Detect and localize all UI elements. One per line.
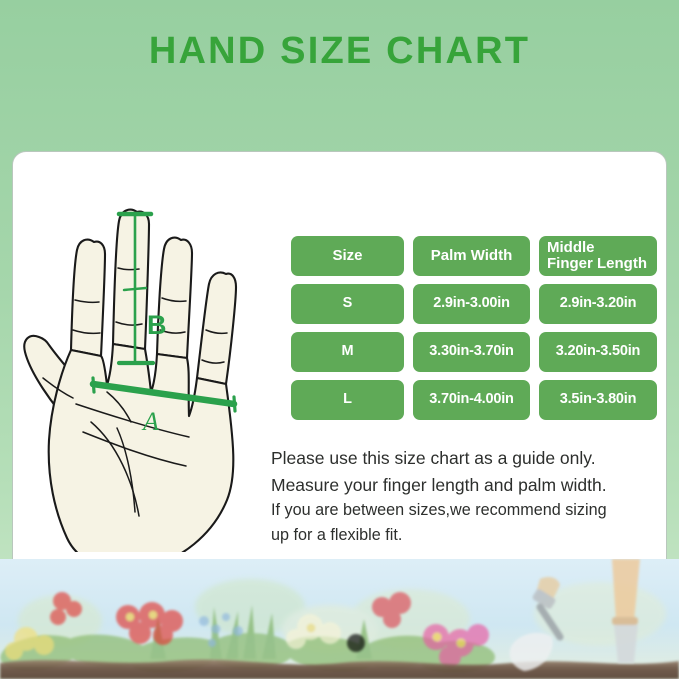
guidance-notes: Please use this size chart as a guide on…: [271, 445, 671, 547]
header-cell-size: Size: [291, 236, 404, 276]
garden-photo-band: [0, 559, 679, 679]
header-cell-palm-width: Palm Width: [413, 236, 530, 276]
note-line-3: If you are between sizes,we recommend si…: [271, 498, 671, 523]
cell-palm-width: 2.9in-3.00in: [413, 284, 530, 324]
size-table: Size Palm Width Middle Finger Length S 2…: [291, 236, 657, 428]
header-middle-line-2: Finger Length: [547, 256, 647, 272]
measure-b-label: B: [147, 310, 167, 340]
note-line-1: Please use this size chart as a guide on…: [271, 445, 671, 472]
cell-palm-width: 3.70in-4.00in: [413, 380, 530, 420]
cell-size: L: [291, 380, 404, 420]
table-header-row: Size Palm Width Middle Finger Length: [291, 236, 657, 276]
garden-scene-svg: [0, 559, 679, 679]
hand-size-chart-page: HAND SIZE CHART: [0, 0, 679, 679]
note-line-2: Measure your finger length and palm widt…: [271, 472, 671, 499]
page-title: HAND SIZE CHART: [0, 30, 679, 73]
hand-diagram-svg: B A: [21, 182, 271, 552]
cell-middle-finger-length: 2.9in-3.20in: [539, 284, 657, 324]
cell-size: M: [291, 332, 404, 372]
cell-middle-finger-length: 3.5in-3.80in: [539, 380, 657, 420]
hand-illustration: B A: [21, 182, 271, 552]
measure-a-label: A: [141, 407, 159, 436]
header-middle-line-1: Middle: [547, 240, 647, 256]
table-row: L 3.70in-4.00in 3.5in-3.80in: [291, 380, 657, 420]
header-cell-middle-finger-length: Middle Finger Length: [539, 236, 657, 276]
cell-size: S: [291, 284, 404, 324]
table-row: M 3.30in-3.70in 3.20in-3.50in: [291, 332, 657, 372]
note-line-4: up for a flexible fit.: [271, 523, 671, 548]
cell-palm-width: 3.30in-3.70in: [413, 332, 530, 372]
table-row: S 2.9in-3.00in 2.9in-3.20in: [291, 284, 657, 324]
cell-middle-finger-length: 3.20in-3.50in: [539, 332, 657, 372]
chart-card: B A Size Palm Width Middle Finger Length: [12, 151, 667, 585]
